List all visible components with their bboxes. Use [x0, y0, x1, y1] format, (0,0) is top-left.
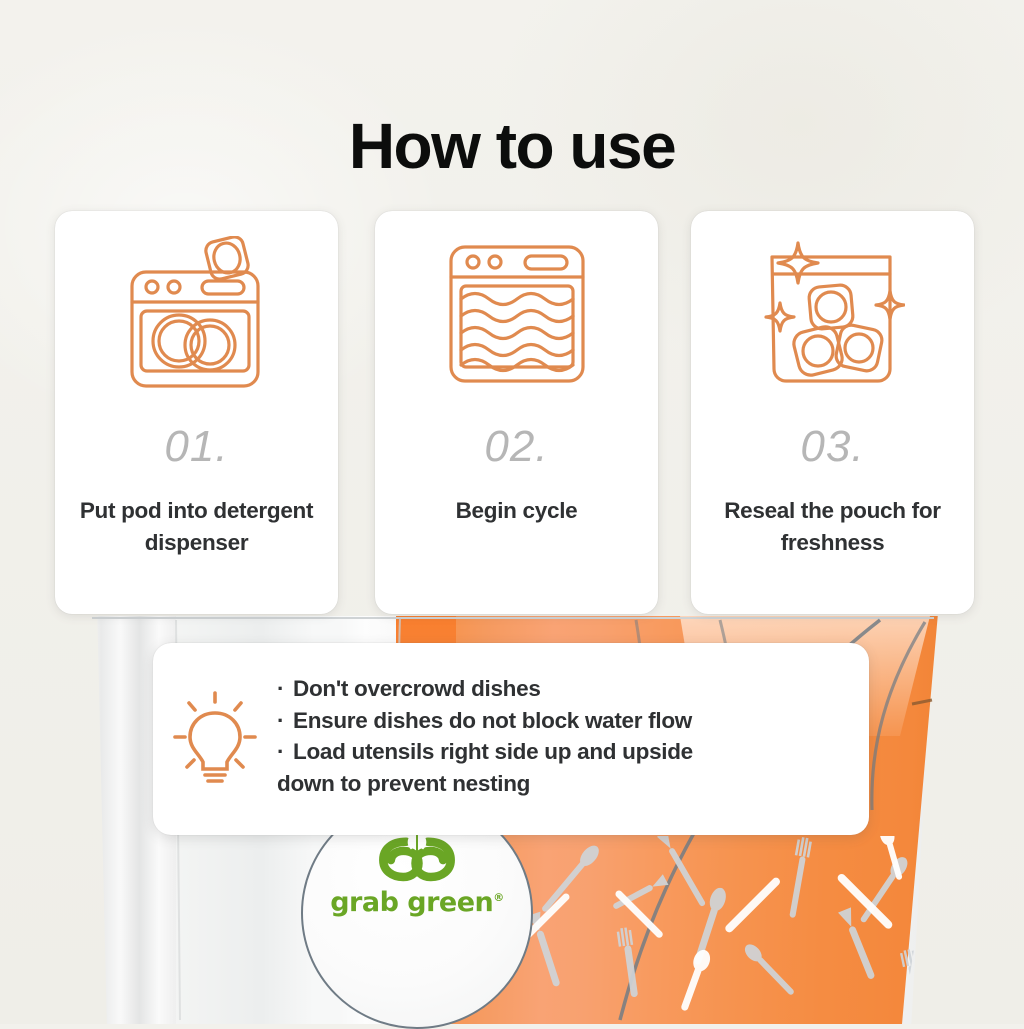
step-label-2: Begin cycle: [444, 495, 590, 527]
brand-wordmark: grab green®: [330, 887, 504, 918]
washing-machine-with-pod-icon: [55, 211, 338, 421]
lightbulb-icon: [153, 643, 277, 835]
tip-item-1: ·Don't overcrowd dishes: [277, 673, 693, 705]
tips-card: ·Don't overcrowd dishes ·Ensure dishes d…: [153, 643, 869, 835]
tip-bullet: ·: [277, 705, 293, 737]
dishwasher-water-cycle-icon: [375, 211, 658, 421]
registered-mark: ®: [493, 891, 504, 904]
tip-item-3-continuation: down to prevent nesting: [277, 768, 693, 800]
tip-text-2: Ensure dishes do not block water flow: [293, 708, 692, 733]
tip-item-3: ·Load utensils right side up and upside: [277, 736, 693, 768]
step-label-1: Put pod into detergent dispenser: [55, 495, 338, 559]
step-card-2: 02. Begin cycle: [375, 211, 658, 614]
page-title: How to use: [0, 109, 1024, 183]
step-card-3: 03. Reseal the pouch for freshness: [691, 211, 974, 614]
brand-name-text: grab green: [330, 887, 493, 918]
step-number-2: 02.: [484, 425, 548, 469]
tip-item-2: ·Ensure dishes do not block water flow: [277, 705, 693, 737]
step-number-3: 03.: [800, 425, 864, 469]
tip-text-1: Don't overcrowd dishes: [293, 676, 541, 701]
tip-text-3: Load utensils right side up and upside: [293, 739, 693, 764]
tip-bullet: ·: [277, 673, 293, 705]
tips-list: ·Don't overcrowd dishes ·Ensure dishes d…: [277, 643, 711, 800]
step-label-3: Reseal the pouch for freshness: [691, 495, 974, 559]
tip-bullet: ·: [277, 736, 293, 768]
resealable-pouch-with-pods-icon: [691, 211, 974, 421]
step-number-1: 01.: [164, 425, 228, 469]
step-card-1: 01. Put pod into detergent dispenser: [55, 211, 338, 614]
